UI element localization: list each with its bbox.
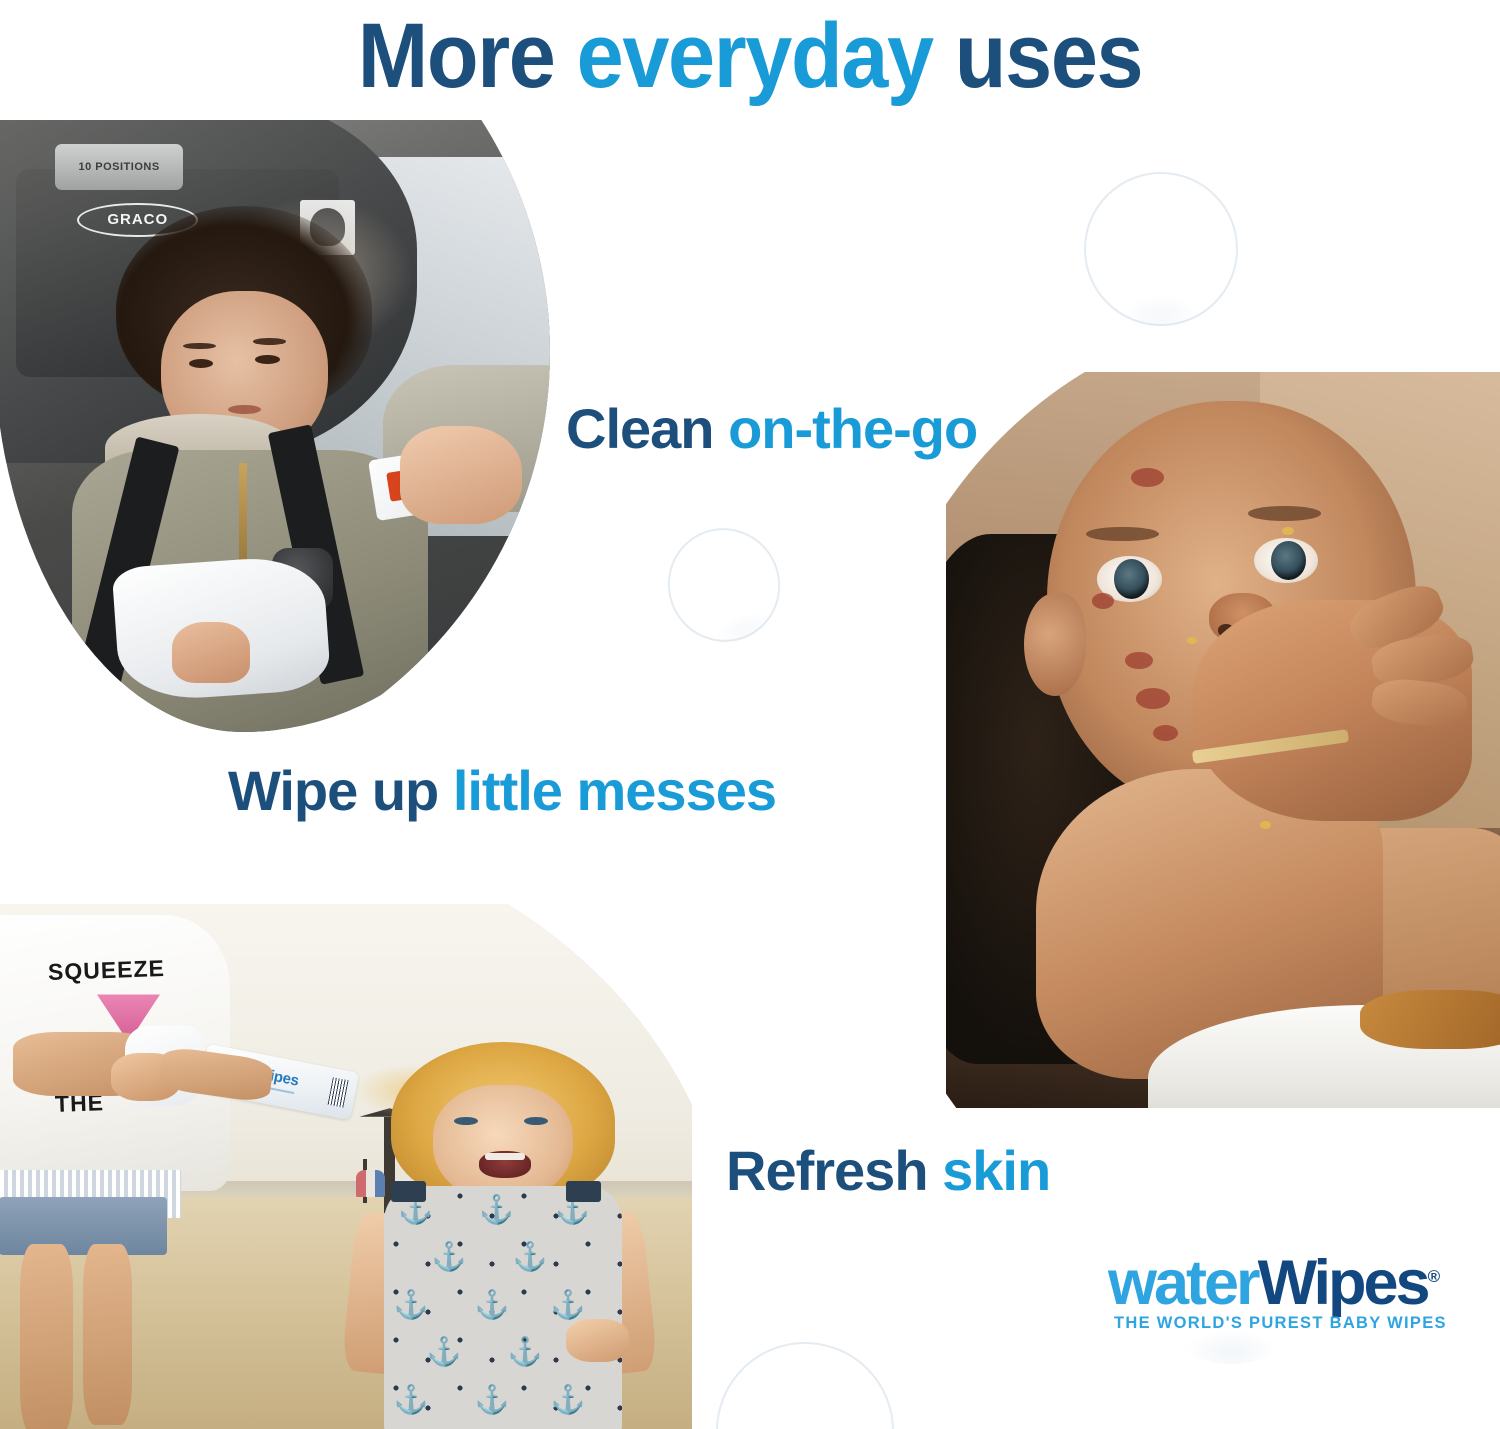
anchor-icon: ⚓ [551,1291,586,1319]
caption-3-dark: Refresh [726,1139,942,1202]
caption-wipe-up-little-messes: Wipe up little messes [228,760,776,822]
girl-leg [20,1244,73,1429]
blonde-toddler-face [433,1085,573,1202]
page-title-part-1: More [358,5,577,107]
anchor-icon: ⚓ [432,1243,467,1271]
dress-strap-right [566,1181,601,1202]
messy-eater-scene [946,372,1500,1108]
toddler-eye-left [189,359,213,368]
caption-3-light: skin [942,1139,1050,1202]
toddler-hand [172,622,250,683]
page-title-part-2: everyday [577,5,933,107]
baby-iris-left [1114,559,1149,599]
blonde-toddler-eye-right [524,1117,548,1125]
car-seat-position-label: 10 POSITIONS [55,144,183,190]
anchor-icon: ⚓ [479,1196,514,1224]
photo-toddler-in-car-seat: 10 POSITIONS GRACO [0,120,550,732]
anchor-icon: ⚓ [474,1386,509,1414]
page-title-part-3: uses [933,5,1143,107]
bubble-middle [650,510,799,660]
waterwipes-logo: waterWipes® THE WORLD'S PUREST BABY WIPE… [1108,1230,1500,1356]
photo-children-on-beach: SQUEEZE THE WaterWipes [0,904,692,1429]
anchor-icon: ⚓ [394,1291,429,1319]
blonde-toddler-eye-left [454,1117,478,1125]
girl-denim-shorts [0,1197,167,1256]
anchor-icon: ⚓ [508,1338,543,1366]
adult-hand [400,426,522,524]
bubble-highlight [668,529,755,606]
bubble-bottom [716,1342,894,1429]
food-smear [1136,688,1170,709]
dress-strap-left [391,1181,426,1202]
bubble-top-right [1084,172,1238,326]
blonde-toddler-mouth [479,1151,532,1178]
waterwipes-wordmark: waterWipes® [1108,1244,1500,1316]
marketing-banner: More everyday uses 10 POSITIONS GRACO [0,0,1500,1429]
bubble-highlight [744,1356,854,1429]
food-crumb [1260,821,1271,829]
blonde-toddler-hand [566,1319,629,1362]
caption-1-light: on-the-go [728,397,977,460]
caption-refresh-skin: Refresh skin [726,1140,1050,1202]
toddler-brow-right [253,338,286,345]
baby-ear [1024,593,1086,696]
anchor-icon: ⚓ [551,1386,586,1414]
bubble-highlight [1109,184,1204,252]
registered-trademark-icon: ® [1428,1267,1441,1286]
tshirt-text-line-1: SQUEEZE [48,955,166,986]
logo-word-wipes: Wipes [1258,1248,1428,1318]
pasta-food [1360,990,1500,1049]
page-title: More everyday uses [60,4,1440,108]
baby-brow-right [1248,506,1321,521]
anchor-icon: ⚓ [427,1338,462,1366]
logo-tagline: THE WORLD'S PUREST BABY WIPES [1114,1314,1500,1333]
anchor-icon: ⚓ [513,1243,548,1271]
food-smear [1092,593,1114,609]
caption-2-dark: Wipe up [228,759,453,822]
beach-scene: SQUEEZE THE WaterWipes [0,904,692,1429]
photo-messy-baby-eating [946,372,1500,1108]
baby-iris-right [1271,541,1306,581]
caption-1-dark: Clean [566,397,728,460]
anchor-icon: ⚓ [394,1386,429,1414]
car-seat-scene: 10 POSITIONS GRACO [0,120,550,732]
beach-windbreak [356,1170,385,1197]
anchor-icon: ⚓ [474,1291,509,1319]
pack-barcode [328,1077,349,1108]
caption-2-light: little messes [453,759,776,822]
baby-brow-left [1086,527,1159,542]
caption-clean-on-the-go: Clean on-the-go [566,398,977,460]
logo-word-water: water [1108,1248,1258,1318]
toddler-eye-right [255,355,279,364]
anchor-print-dress: ⚓ ⚓ ⚓ ⚓ ⚓ ⚓ ⚓ ⚓ ⚓ ⚓ ⚓ ⚓ ⚓ [384,1186,622,1429]
food-smear [1131,468,1165,487]
girl-leg [83,1244,132,1425]
